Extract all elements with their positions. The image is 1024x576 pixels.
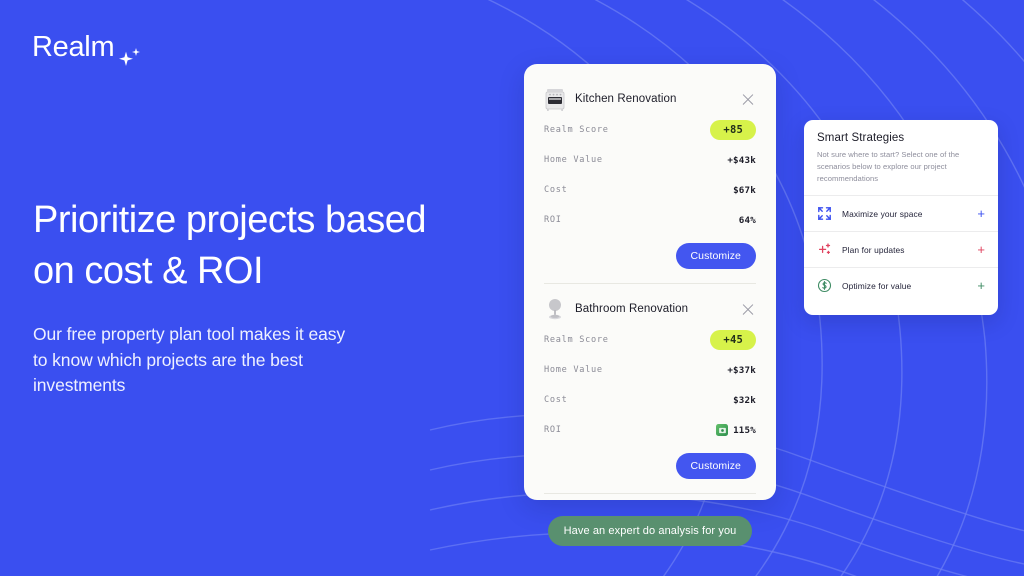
metric-label: Cost [544, 395, 568, 405]
logo-wordmark: Realm [32, 33, 114, 62]
sparkle-plus-icon [817, 242, 832, 257]
page-title: Prioritize projects based on cost & ROI [33, 195, 463, 298]
panel-description: Not sure where to start? Select one of t… [817, 149, 985, 184]
project-item-kitchen: Kitchen Renovation Realm Score +85 Home … [544, 86, 756, 269]
metric-row: ROI 64% [544, 208, 756, 232]
metric-label: ROI [544, 215, 562, 225]
expand-arrows-icon [817, 206, 832, 221]
page-subtitle: Our free property plan tool makes it eas… [33, 322, 363, 399]
strategy-label: Optimize for value [842, 281, 967, 291]
metric-value: 64% [739, 215, 756, 226]
shower-head-icon [544, 297, 566, 321]
money-badge-icon [716, 424, 728, 436]
metric-value-roi: 115% [716, 424, 756, 436]
expert-analysis-button[interactable]: Have an expert do analysis for you [548, 516, 753, 546]
project-title: Kitchen Renovation [575, 93, 731, 105]
metric-row: Cost $32k [544, 388, 756, 412]
strategy-item-maximize-space[interactable]: Maximize your space + [804, 195, 998, 231]
customize-button[interactable]: Customize [676, 243, 757, 269]
status-badge: +85 [710, 120, 756, 141]
score-label: Realm Score [544, 125, 609, 135]
divider [544, 493, 756, 494]
project-header: Kitchen Renovation [544, 86, 756, 112]
score-label: Realm Score [544, 335, 609, 345]
dollar-circle-icon [817, 278, 832, 293]
metric-value: $67k [733, 185, 756, 196]
close-icon[interactable] [740, 301, 756, 317]
metric-row: Home Value +$43k [544, 148, 756, 172]
sparkle-icon [115, 36, 145, 66]
strategy-item-optimize-value[interactable]: Optimize for value + [804, 267, 998, 303]
status-badge: +45 [710, 330, 756, 351]
metric-label: Home Value [544, 365, 603, 375]
score-row: Realm Score +45 [544, 328, 756, 352]
metric-label: ROI [544, 425, 562, 435]
roi-value: 115% [733, 425, 756, 436]
strategy-label: Plan for updates [842, 245, 967, 255]
customize-row: Customize [544, 453, 756, 479]
customize-button[interactable]: Customize [676, 453, 757, 479]
plus-icon[interactable]: + [977, 279, 985, 292]
strategies-header: Smart Strategies Not sure where to start… [804, 120, 998, 195]
metric-label: Home Value [544, 155, 603, 165]
brand-logo[interactable]: Realm [32, 33, 145, 62]
score-row: Realm Score +85 [544, 118, 756, 142]
project-title: Bathroom Renovation [575, 303, 731, 315]
panel-title: Smart Strategies [817, 132, 985, 144]
metric-value: +$37k [727, 365, 756, 376]
project-item-bathroom: Bathroom Renovation Realm Score +45 Home… [544, 296, 756, 479]
metric-row: Cost $67k [544, 178, 756, 202]
metric-value: $32k [733, 395, 756, 406]
stove-icon [544, 87, 566, 111]
metric-label: Cost [544, 185, 568, 195]
divider [544, 283, 756, 284]
smart-strategies-panel: Smart Strategies Not sure where to start… [804, 120, 998, 315]
projects-card: Kitchen Renovation Realm Score +85 Home … [524, 64, 776, 500]
customize-row: Customize [544, 243, 756, 269]
metric-value: +$43k [727, 155, 756, 166]
plus-icon[interactable]: + [977, 207, 985, 220]
metric-row: ROI 115% [544, 418, 756, 442]
promo-slide: Realm Prioritize projects based on cost … [0, 0, 1024, 576]
strategy-item-plan-updates[interactable]: Plan for updates + [804, 231, 998, 267]
close-icon[interactable] [740, 91, 756, 107]
expert-cta-row: Have an expert do analysis for you [544, 516, 756, 546]
metric-row: Home Value +$37k [544, 358, 756, 382]
project-header: Bathroom Renovation [544, 296, 756, 322]
plus-icon[interactable]: + [977, 243, 985, 256]
strategy-label: Maximize your space [842, 209, 967, 219]
